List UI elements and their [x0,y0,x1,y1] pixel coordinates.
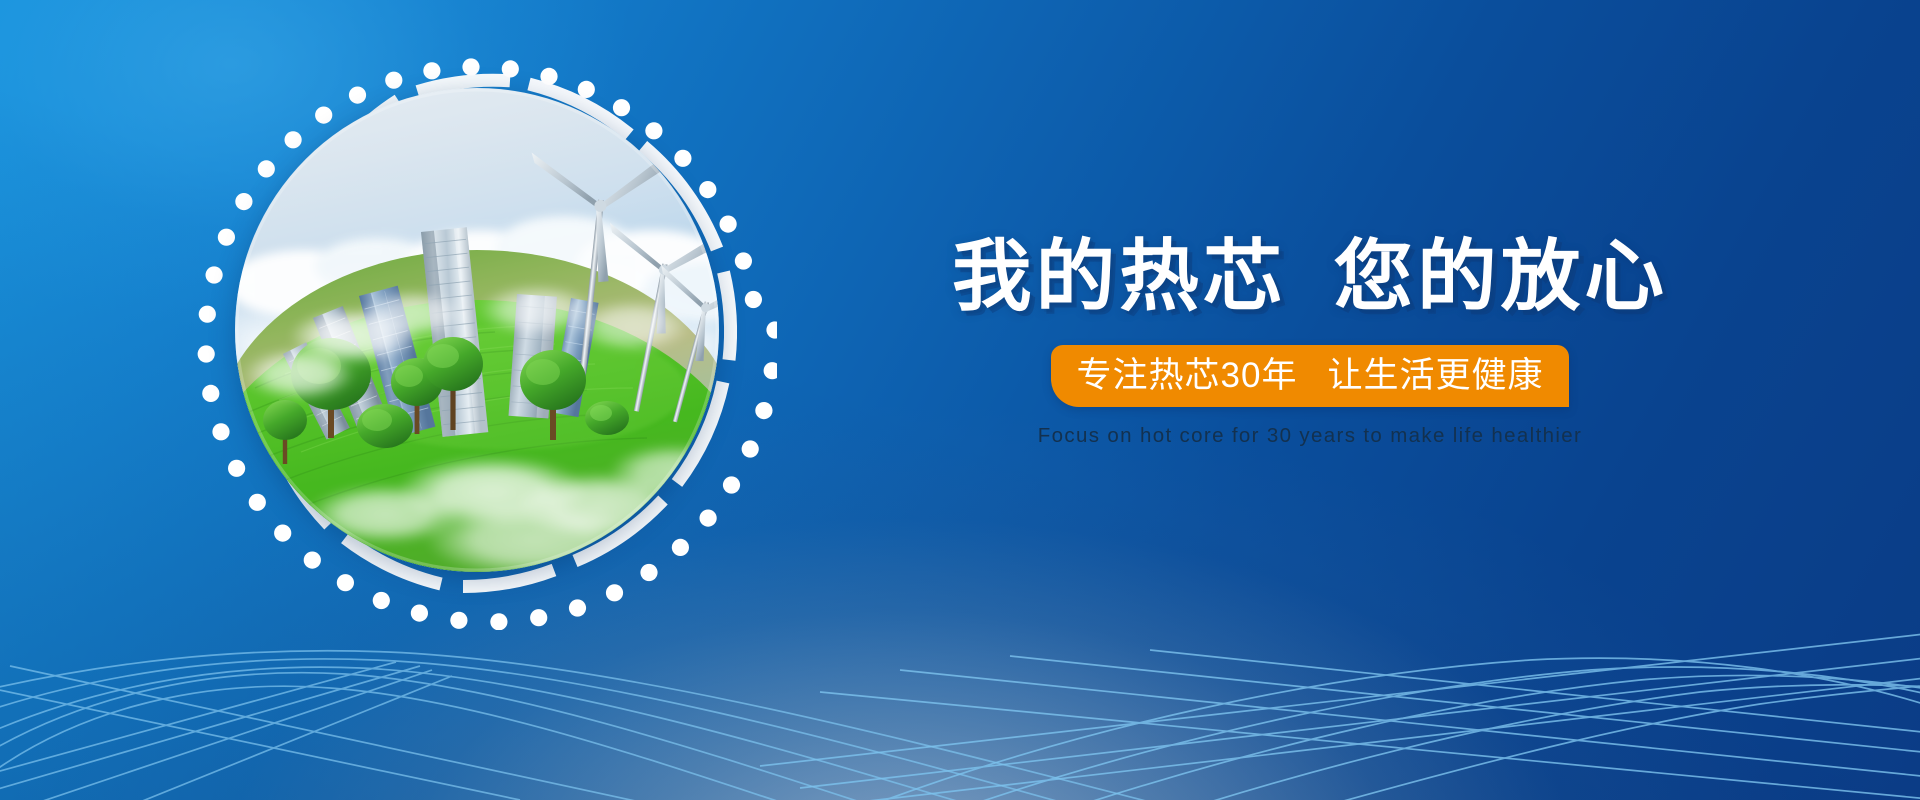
english-subtitle: Focus on hot core for 30 years to make l… [860,424,1760,448]
badge-part-1: 专注热芯30年 [1077,358,1298,393]
eco-planet-graphic [177,30,777,630]
badge-part-2: 让生活更健康 [1327,358,1543,393]
headline: 我的热芯您的放心 [851,236,1769,319]
headline-part-1: 我的热芯 [952,232,1287,322]
planet-circle [235,88,719,572]
badge-row: 专注热芯30年让生活更健康 [860,345,1760,407]
tagline-badge: 专注热芯30年让生活更健康 [1051,345,1570,407]
hero-text-block: 我的热芯您的放心 专注热芯30年让生活更健康 Focus on hot core… [860,236,1760,448]
headline-part-2: 您的放心 [1333,232,1668,322]
planet-scenery [235,88,719,572]
hero-banner: 我的热芯您的放心 专注热芯30年让生活更健康 Focus on hot core… [0,0,1920,800]
